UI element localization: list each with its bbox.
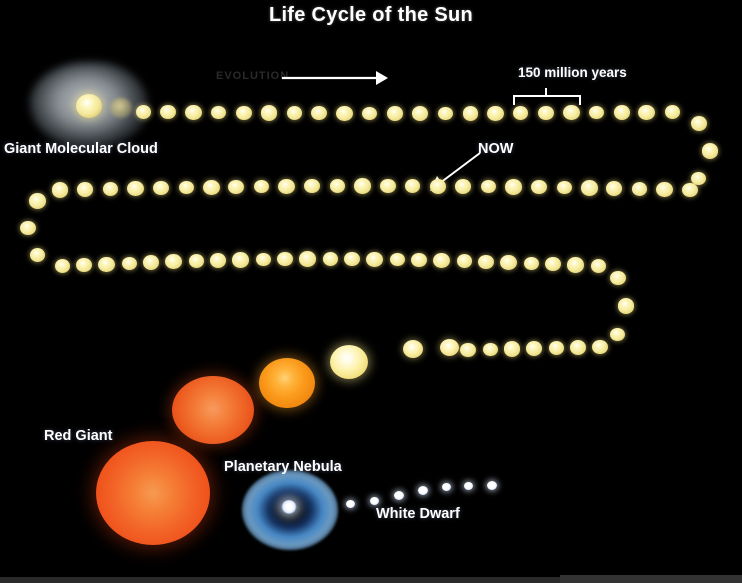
main-sequence-star-dot: [304, 179, 320, 193]
main-sequence-star-dot: [557, 181, 572, 195]
main-sequence-star-dot: [390, 253, 405, 267]
giant-molecular-cloud-faint-star: [110, 98, 132, 118]
main-sequence-star-dot: [581, 180, 598, 195]
main-sequence-star-dot: [387, 106, 403, 120]
main-sequence-star-dot: [531, 180, 547, 194]
main-sequence-star-dot: [278, 179, 295, 194]
main-sequence-star-dot: [29, 193, 46, 208]
star-stage-4-orange: [259, 358, 315, 408]
main-sequence-star-dot: [405, 179, 420, 193]
main-sequence-star-dot: [287, 106, 302, 120]
main-sequence-star-dot: [76, 258, 92, 272]
main-sequence-star-dot: [483, 343, 498, 357]
main-sequence-star-dot: [526, 341, 542, 355]
main-sequence-star-dot: [277, 252, 293, 266]
main-sequence-star-dot: [299, 251, 316, 266]
star-stage-5-subgiant: [172, 376, 254, 444]
label-giant-molecular-cloud: Giant Molecular Cloud: [4, 141, 158, 157]
white-dwarf-dot: [394, 491, 404, 500]
main-sequence-star-dot: [211, 106, 226, 120]
main-sequence-star-dot: [702, 143, 719, 158]
main-sequence-star-dot: [122, 257, 137, 271]
white-dwarf-dot: [442, 483, 451, 491]
star-stage-1: [440, 339, 459, 356]
main-sequence-star-dot: [344, 252, 360, 266]
main-sequence-star-dot: [412, 106, 429, 121]
main-sequence-star-dot: [189, 254, 204, 268]
main-sequence-star-dot: [610, 271, 626, 285]
bottom-border-strip-right: [560, 575, 742, 583]
main-sequence-star-dot: [254, 180, 269, 194]
main-sequence-star-dot: [165, 254, 182, 269]
main-sequence-star-dot: [336, 106, 353, 121]
main-sequence-star-dot: [538, 106, 554, 120]
time-arrow-icon: [280, 68, 390, 88]
main-sequence-star-dot: [20, 221, 36, 235]
main-sequence-star-dot: [153, 181, 169, 195]
main-sequence-star-dot: [570, 340, 587, 355]
main-sequence-star-dot: [98, 257, 115, 272]
main-sequence-star-dot: [478, 255, 494, 269]
main-sequence-star-dot: [380, 179, 396, 193]
main-sequence-star-dot: [500, 255, 517, 270]
main-sequence-star-dot: [232, 252, 249, 267]
main-sequence-star-dot: [362, 107, 377, 121]
main-sequence-star-dot: [632, 182, 647, 196]
white-dwarf-dot: [418, 486, 428, 495]
main-sequence-star-dot: [136, 105, 151, 119]
main-sequence-star-dot: [691, 116, 707, 130]
main-sequence-star-dot: [261, 105, 278, 120]
main-sequence-star-dot: [505, 179, 522, 194]
main-sequence-star-dot: [460, 343, 476, 357]
main-sequence-star-dot: [591, 259, 606, 273]
main-sequence-star-dot: [524, 257, 539, 271]
main-sequence-star-dot: [430, 179, 447, 194]
main-sequence-star-dot: [614, 105, 630, 119]
main-sequence-star-dot: [160, 105, 176, 119]
main-sequence-star-dot: [323, 252, 338, 266]
main-sequence-star-dot: [236, 106, 252, 120]
main-sequence-star-dot: [433, 253, 450, 268]
main-sequence-star-dot: [203, 180, 220, 195]
main-sequence-star-dot: [438, 107, 453, 121]
main-sequence-star-dot: [228, 180, 244, 194]
main-sequence-star-dot: [30, 248, 45, 262]
white-dwarf-dot: [464, 482, 473, 490]
main-sequence-star-dot: [463, 106, 479, 120]
main-sequence-star-dot: [55, 259, 70, 273]
page-title: Life Cycle of the Sun: [0, 4, 742, 27]
main-sequence-star-dot: [256, 253, 271, 267]
main-sequence-star-dot: [481, 180, 496, 194]
main-sequence-star-dot: [210, 253, 226, 267]
main-sequence-star-dot: [589, 106, 604, 120]
main-sequence-star-dot: [610, 328, 625, 342]
giant-molecular-cloud-protostar: [76, 94, 102, 118]
label-white-dwarf: White Dwarf: [376, 506, 460, 522]
main-sequence-star-dot: [487, 106, 504, 121]
main-sequence-star-dot: [656, 182, 673, 197]
white-dwarf-dot: [346, 500, 355, 508]
main-sequence-star-dot: [665, 105, 680, 119]
main-sequence-star-dot: [77, 182, 93, 196]
main-sequence-star-dot: [513, 106, 528, 120]
life-cycle-of-the-sun-diagram: Life Cycle of the Sun Giant Molecular Cl…: [0, 0, 742, 583]
main-sequence-star-dot: [638, 105, 655, 120]
label-time-faint: EVOLUTION: [216, 70, 289, 82]
main-sequence-star-dot: [311, 106, 327, 120]
label-red-giant: Red Giant: [44, 428, 112, 444]
main-sequence-star-dot: [143, 255, 159, 269]
main-sequence-star-dot: [606, 181, 622, 195]
main-sequence-star-dot: [127, 181, 144, 196]
main-sequence-star-dot: [618, 298, 635, 313]
main-sequence-star-dot: [52, 182, 69, 197]
main-sequence-star-dot: [563, 105, 580, 120]
main-sequence-star-dot: [592, 340, 608, 354]
main-sequence-star-dot: [504, 341, 521, 356]
label-planetary-nebula: Planetary Nebula: [224, 459, 342, 475]
main-sequence-star-dot: [103, 182, 118, 196]
main-sequence-star-dot: [682, 183, 698, 197]
main-sequence-star-dot: [411, 253, 427, 267]
white-dwarf-dot: [370, 497, 379, 505]
main-sequence-star-dot: [457, 254, 472, 268]
main-sequence-star-dot: [549, 341, 564, 355]
main-sequence-star-dot: [545, 257, 561, 271]
main-sequence-star-dot: [567, 257, 584, 272]
planetary-nebula-core: [281, 500, 297, 514]
main-sequence-star-dot: [455, 179, 471, 193]
label-timescale: 150 million years: [518, 65, 627, 80]
main-sequence-star-dot: [185, 105, 202, 120]
main-sequence-star-dot: [330, 179, 345, 193]
white-dwarf-dot: [487, 481, 497, 490]
main-sequence-star-dot: [366, 252, 383, 267]
main-sequence-star-dot: [354, 178, 371, 193]
timescale-bracket-icon: [512, 86, 584, 106]
red-giant-sphere: [96, 441, 210, 545]
star-stage-3: [330, 345, 368, 379]
star-stage-2: [403, 340, 423, 358]
main-sequence-star-dot: [179, 181, 194, 195]
